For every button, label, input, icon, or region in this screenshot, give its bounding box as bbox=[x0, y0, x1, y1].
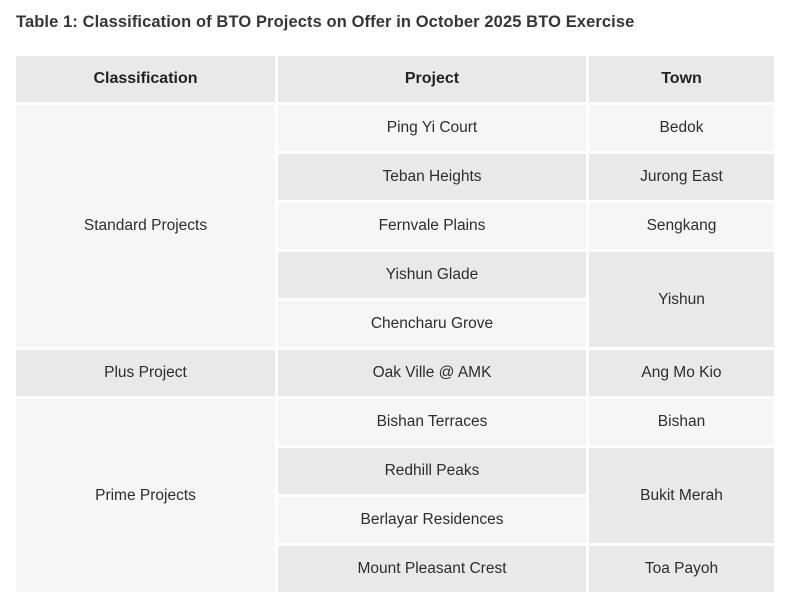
cell-project: Redhill Peaks bbox=[278, 448, 586, 494]
table-header-row: Classification Project Town bbox=[16, 56, 774, 102]
table-header: Classification Project Town bbox=[16, 56, 774, 102]
cell-project: Mount Pleasant Crest bbox=[278, 546, 586, 592]
cell-classification: Standard Projects bbox=[16, 105, 275, 347]
cell-classification-label: Standard Projects bbox=[24, 203, 267, 249]
cell-project: Bishan Terraces bbox=[278, 399, 586, 445]
cell-town: Jurong East bbox=[589, 154, 774, 200]
table-row: Prime ProjectsBishan TerracesBishan bbox=[16, 399, 774, 445]
cell-classification: Prime Projects bbox=[16, 399, 275, 592]
cell-project: Fernvale Plains bbox=[278, 203, 586, 249]
cell-town: Bishan bbox=[589, 399, 774, 445]
cell-town: Bedok bbox=[589, 105, 774, 151]
cell-classification-label: Prime Projects bbox=[24, 473, 267, 519]
cell-project: Chencharu Grove bbox=[278, 301, 586, 347]
page-title: Table 1: Classification of BTO Projects … bbox=[16, 11, 768, 33]
cell-project: Berlayar Residences bbox=[278, 497, 586, 543]
cell-town: Sengkang bbox=[589, 203, 774, 249]
table-row: Standard ProjectsPing Yi CourtBedok bbox=[16, 105, 774, 151]
cell-town: Bukit Merah bbox=[589, 448, 774, 543]
cell-project: Ping Yi Court bbox=[278, 105, 586, 151]
cell-town-label: Bukit Merah bbox=[597, 473, 766, 519]
cell-project: Teban Heights bbox=[278, 154, 586, 200]
cell-project: Oak Ville @ AMK bbox=[278, 350, 586, 396]
cell-project: Yishun Glade bbox=[278, 252, 586, 298]
table-row: Plus ProjectOak Ville @ AMKAng Mo Kio bbox=[16, 350, 774, 396]
column-header-project: Project bbox=[278, 56, 586, 102]
column-header-classification: Classification bbox=[16, 56, 275, 102]
cell-town: Ang Mo Kio bbox=[589, 350, 774, 396]
cell-classification: Plus Project bbox=[16, 350, 275, 396]
cell-town: Yishun bbox=[589, 252, 774, 347]
cell-town-label: Yishun bbox=[597, 277, 766, 323]
page-root: Table 1: Classification of BTO Projects … bbox=[0, 0, 785, 611]
cell-town: Toa Payoh bbox=[589, 546, 774, 592]
table-body: Standard ProjectsPing Yi CourtBedokTeban… bbox=[16, 105, 774, 592]
bto-classification-table: Classification Project Town Standard Pro… bbox=[13, 53, 777, 595]
table-container: Classification Project Town Standard Pro… bbox=[16, 56, 768, 592]
column-header-town: Town bbox=[589, 56, 774, 102]
